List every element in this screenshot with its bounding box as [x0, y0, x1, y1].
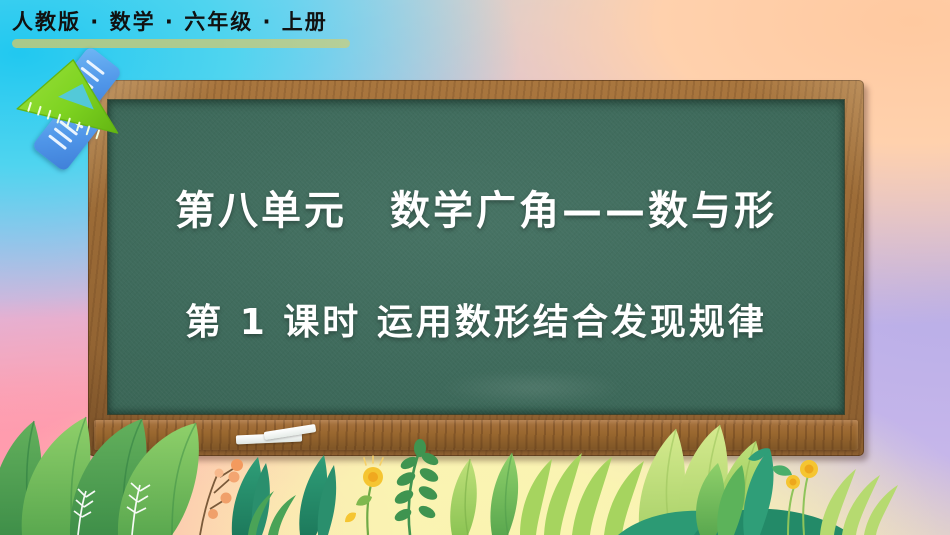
- header-title: 人教版 · 数学 · 六年级 · 上册: [12, 6, 328, 36]
- header-underline-bar: [12, 39, 350, 48]
- header: 人教版 · 数学 · 六年级 · 上册: [0, 0, 950, 56]
- unit-title: 第八单元 数学广角——数与形: [108, 178, 844, 236]
- yellow-flower: [345, 456, 383, 535]
- blackboard: 第八单元 数学广角——数与形 第 1 课时 运用数形结合发现规律: [88, 80, 864, 456]
- plants-decoration: [0, 405, 950, 535]
- slide-canvas: 人教版 · 数学 · 六年级 · 上册 第八单元 数学广角——数与形 第 1 课…: [0, 0, 950, 535]
- ruler-decoration: [8, 48, 138, 173]
- lesson-subtitle: 第 1 课时 运用数形结合发现规律: [108, 293, 844, 345]
- triangle-ruler-icon: [3, 50, 125, 161]
- blackboard-text-area: 第八单元 数学广角——数与形 第 1 课时 运用数形结合发现规律: [108, 100, 844, 414]
